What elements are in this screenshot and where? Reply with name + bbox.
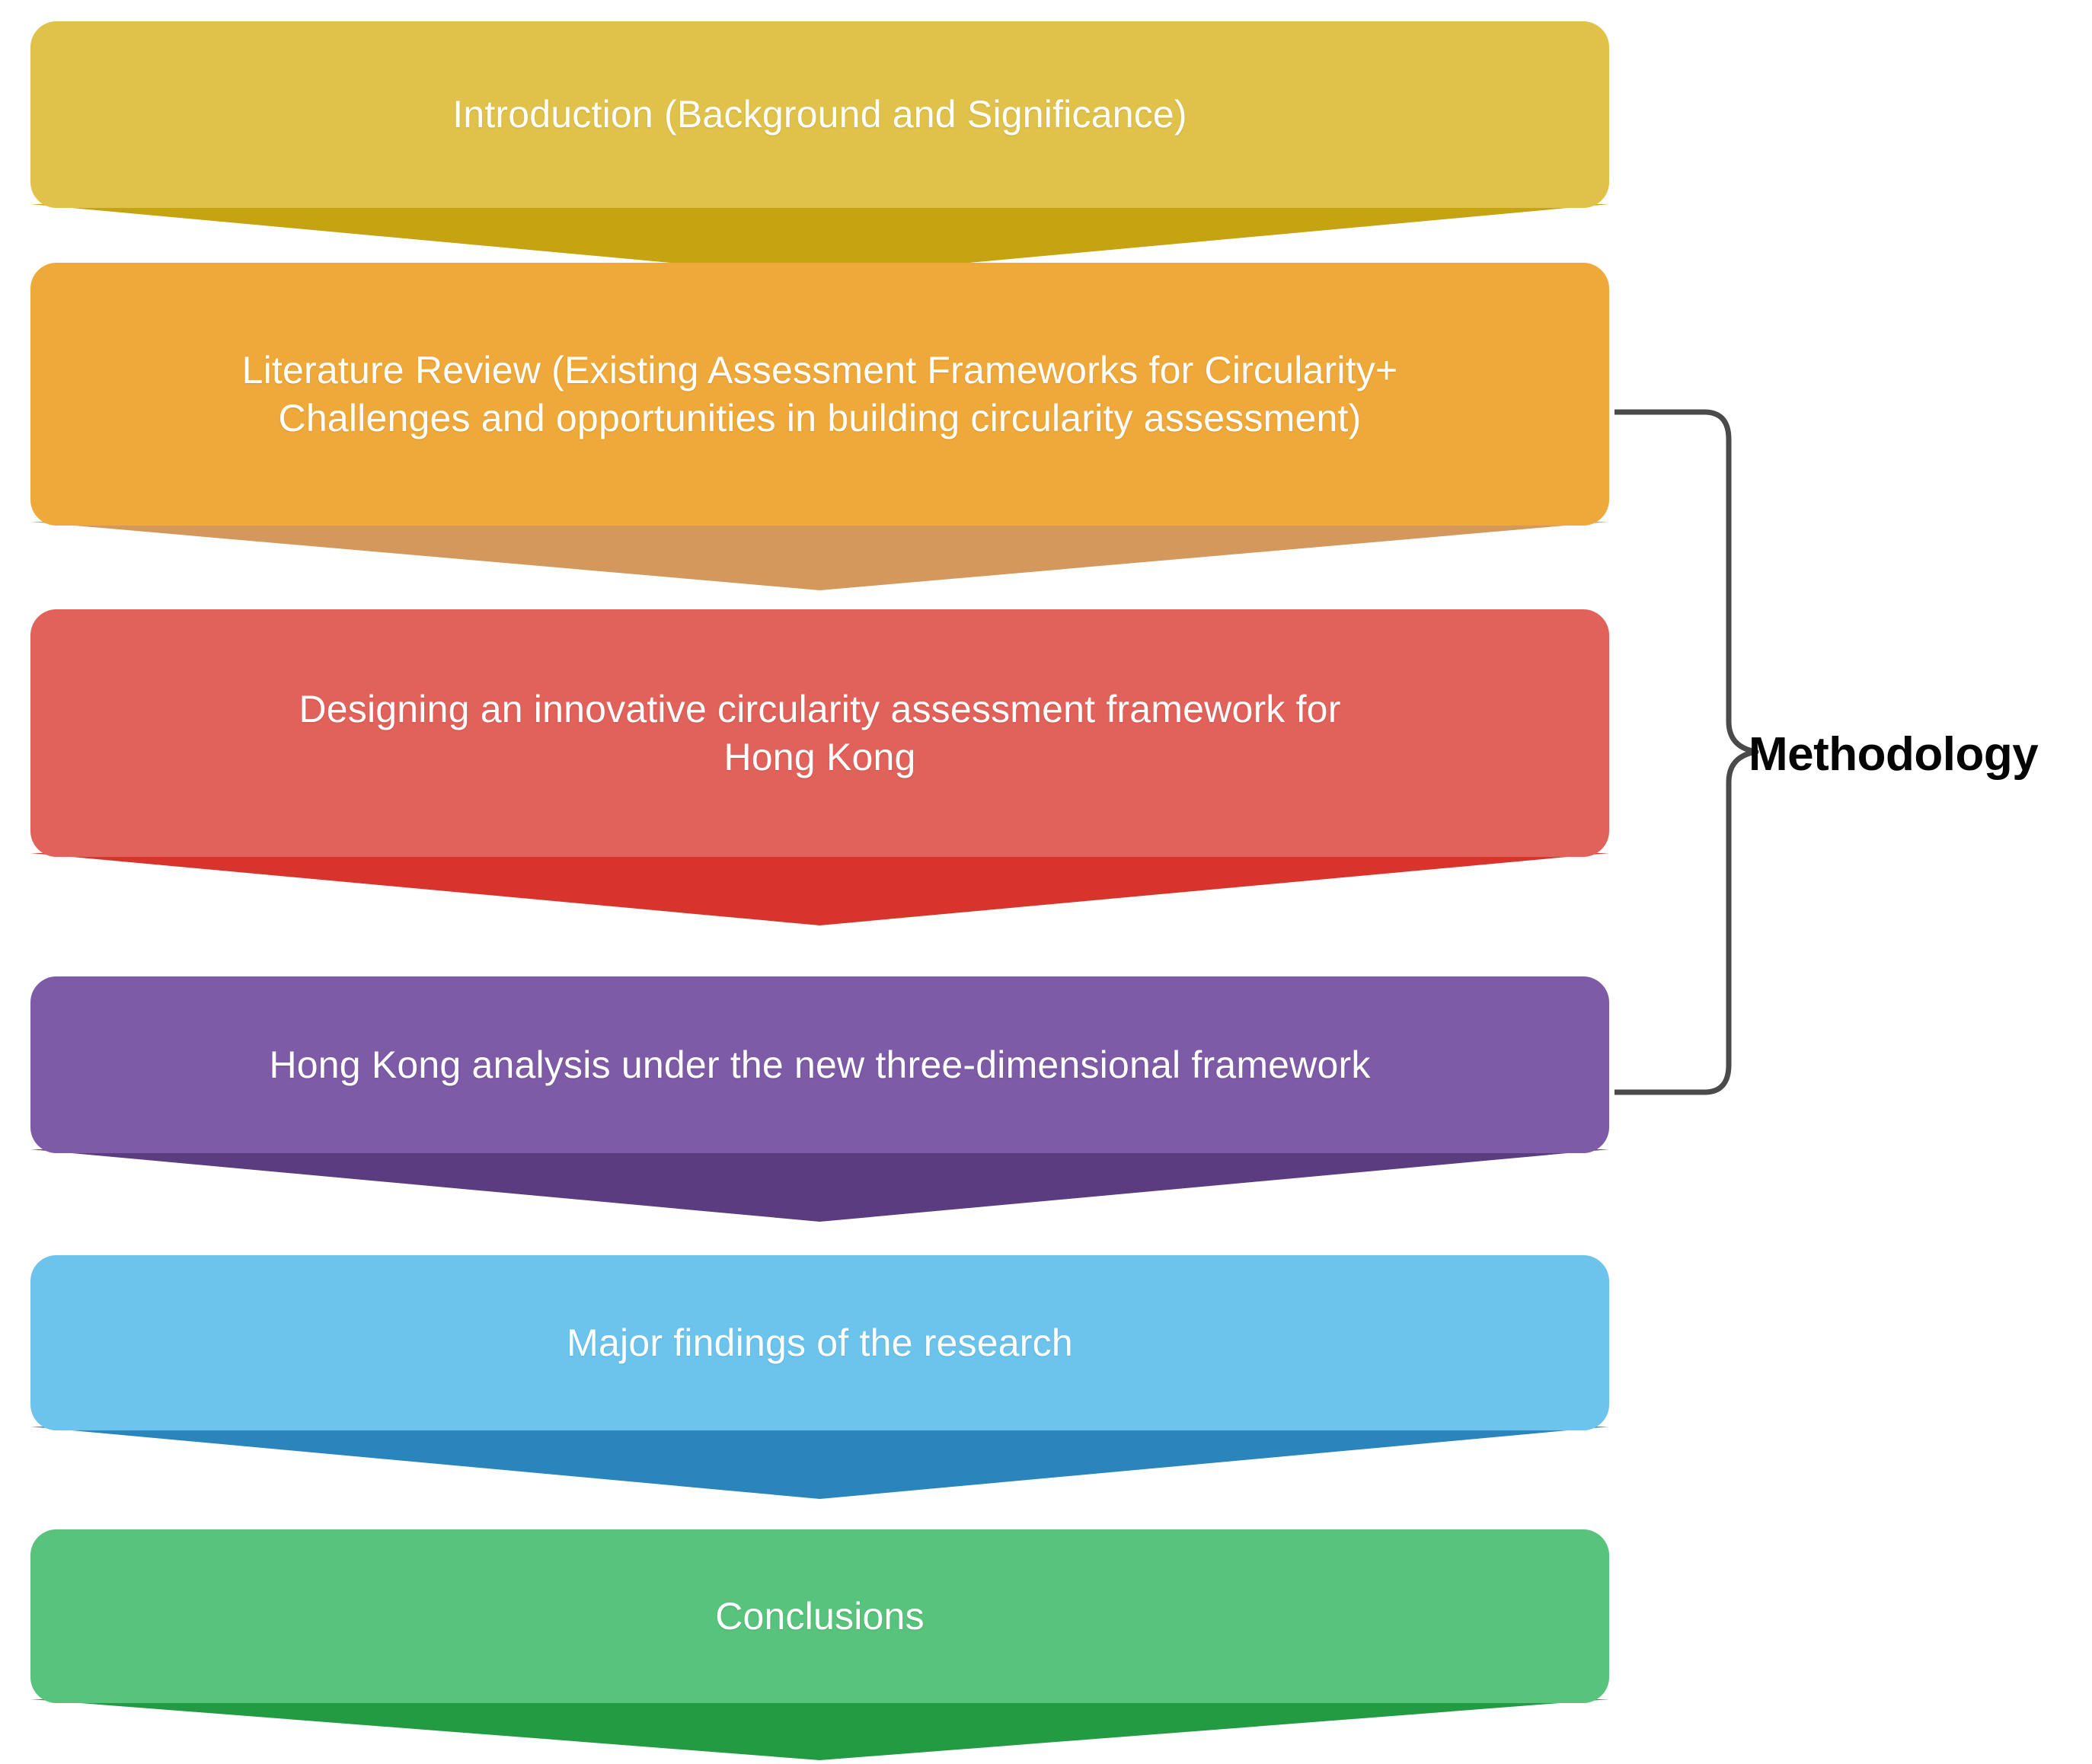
brace-shape bbox=[1615, 407, 1759, 1097]
arrow-polygon bbox=[30, 522, 1609, 590]
step-body-conclusions[interactable]: Conclusions bbox=[30, 1529, 1609, 1703]
flow-step-major-findings[interactable]: Major findings of the research bbox=[30, 1255, 1609, 1497]
step-body-findings[interactable]: Major findings of the research bbox=[30, 1255, 1609, 1430]
step-label-literature: Literature Review (Existing Assessment F… bbox=[212, 347, 1429, 442]
arrow-tail-shape bbox=[30, 1699, 1609, 1760]
arrow-tail-shape bbox=[30, 1427, 1609, 1499]
arrow-polygon bbox=[30, 1427, 1609, 1499]
step-body-introduction[interactable]: Introduction (Background and Significanc… bbox=[30, 21, 1609, 208]
flowchart-canvas: Introduction (Background and Significanc… bbox=[0, 0, 2092, 1756]
step-arrow-tail-conclusions bbox=[30, 1699, 1609, 1760]
step-arrow-tail-findings bbox=[30, 1427, 1609, 1499]
arrow-tail-shape bbox=[30, 1149, 1609, 1222]
arrow-polygon bbox=[30, 1149, 1609, 1222]
step-label-hkanalysis: Hong Kong analysis under the new three-d… bbox=[238, 1041, 1401, 1089]
step-body-literature[interactable]: Literature Review (Existing Assessment F… bbox=[30, 263, 1609, 526]
step-arrow-tail-designing bbox=[30, 853, 1609, 925]
flow-step-introduction[interactable]: Introduction (Background and Significanc… bbox=[30, 21, 1609, 254]
step-label-conclusions: Conclusions bbox=[685, 1593, 955, 1641]
step-label-findings: Major findings of the research bbox=[536, 1319, 1103, 1367]
flow-step-literature-review[interactable]: Literature Review (Existing Assessment F… bbox=[30, 263, 1609, 583]
step-body-hkanalysis[interactable]: Hong Kong analysis under the new three-d… bbox=[30, 976, 1609, 1153]
step-arrow-tail-hkanalysis bbox=[30, 1149, 1609, 1222]
arrow-tail-shape bbox=[30, 522, 1609, 590]
step-label-introduction: Introduction (Background and Significanc… bbox=[422, 91, 1218, 139]
brace-path bbox=[1615, 412, 1756, 1092]
arrow-tail-shape bbox=[30, 853, 1609, 925]
flow-step-designing-framework[interactable]: Designing an innovative circularity asse… bbox=[30, 609, 1609, 922]
flow-step-hongkong-analysis[interactable]: Hong Kong analysis under the new three-d… bbox=[30, 976, 1609, 1220]
methodology-brace bbox=[1615, 407, 1759, 1097]
step-arrow-tail-literature bbox=[30, 522, 1609, 590]
step-body-designing[interactable]: Designing an innovative circularity asse… bbox=[30, 609, 1609, 857]
arrow-polygon bbox=[30, 853, 1609, 925]
step-label-designing: Designing an innovative circularity asse… bbox=[268, 685, 1371, 781]
methodology-label: Methodology bbox=[1749, 727, 2038, 781]
arrow-polygon bbox=[30, 1699, 1609, 1760]
flow-step-conclusions[interactable]: Conclusions bbox=[30, 1529, 1609, 1758]
